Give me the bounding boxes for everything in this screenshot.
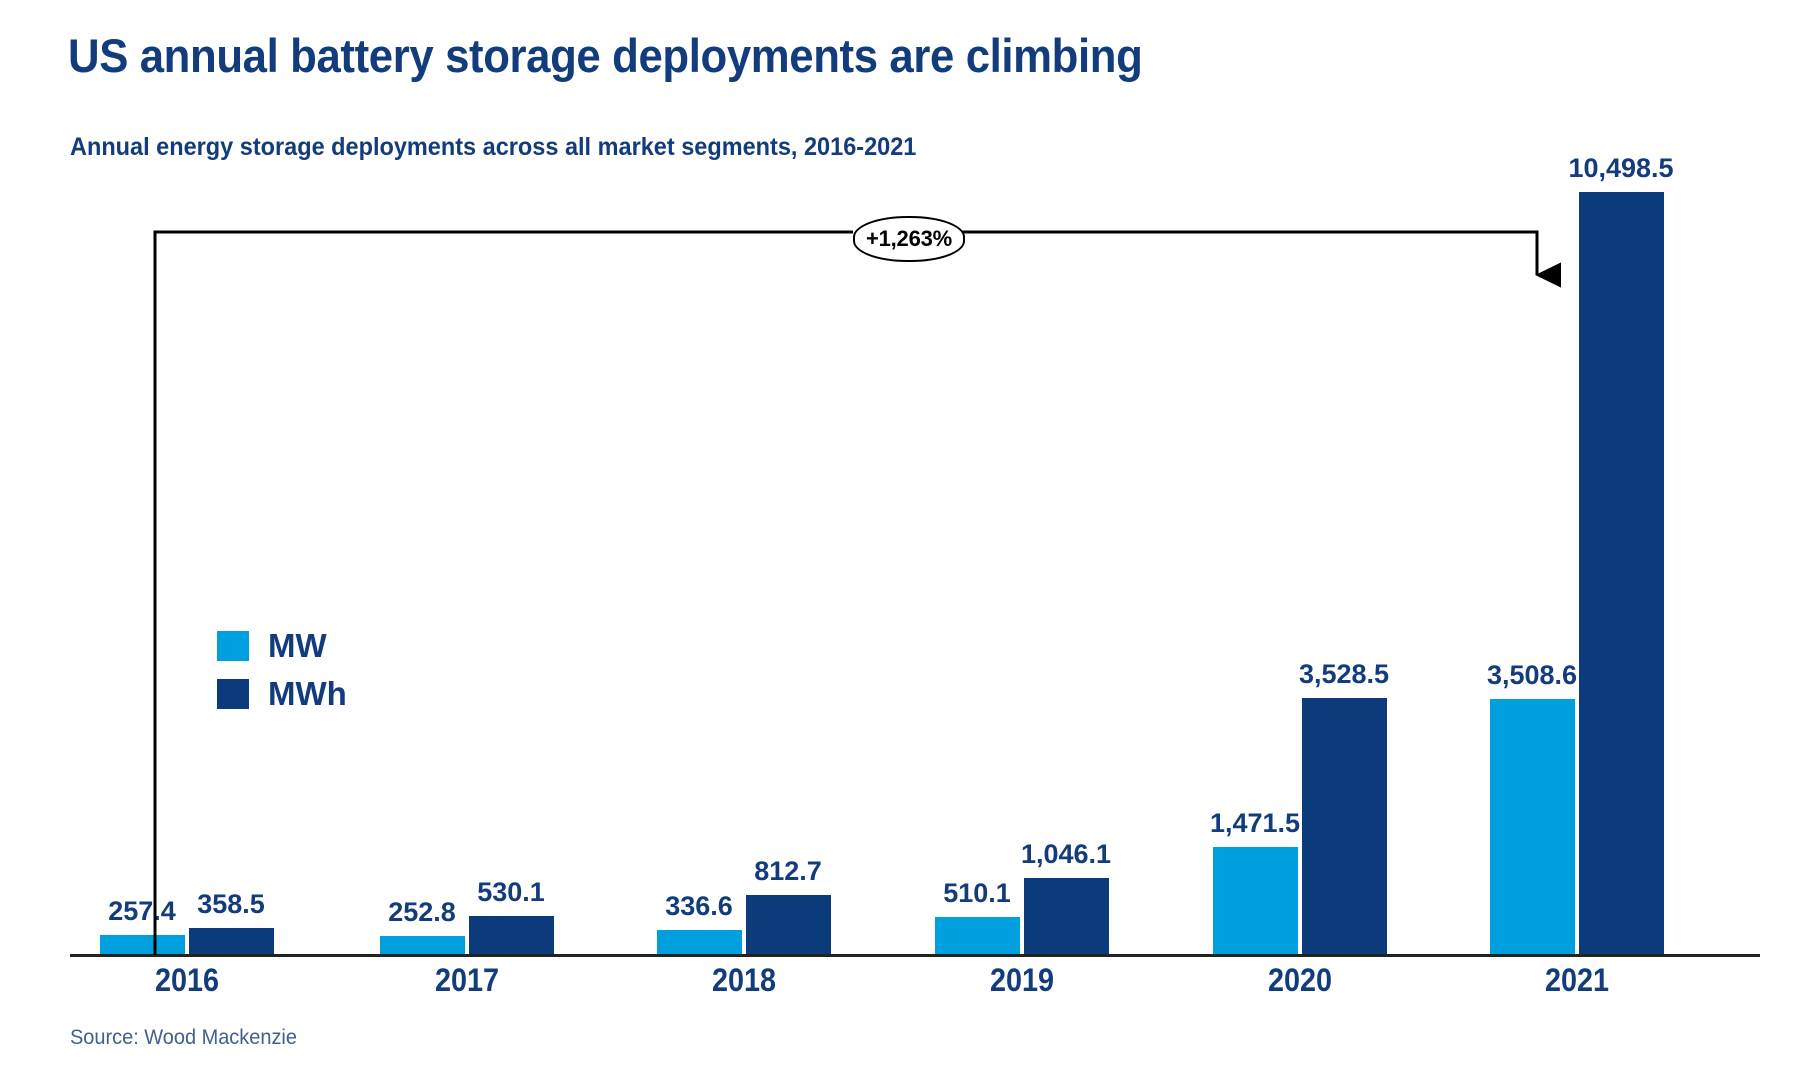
bar-2021-mwh[interactable] xyxy=(1579,192,1664,954)
plot-area: 257.4358.5252.8530.1336.6812.7510.11,046… xyxy=(0,0,1800,1080)
x-axis-tick-2018: 2018 xyxy=(654,962,834,999)
growth-annotation-badge: +1,263% xyxy=(853,216,965,262)
bar-2019-mw[interactable] xyxy=(935,917,1020,954)
legend-label-mw: MW xyxy=(268,629,327,662)
value-label-2021-mwh: 10,498.5 xyxy=(1561,153,1681,184)
chart-page: US annual battery storage deployments ar… xyxy=(0,0,1800,1080)
legend-item-mwh[interactable]: MWh xyxy=(217,673,347,714)
value-label-2020-mw: 1,471.5 xyxy=(1195,808,1315,839)
x-axis-tick-2021: 2021 xyxy=(1487,962,1667,999)
value-label-2017-mwh: 530.1 xyxy=(451,877,571,908)
source-caption: Source: Wood Mackenzie xyxy=(70,1026,297,1050)
bar-2017-mw[interactable] xyxy=(380,936,465,954)
bar-2020-mw[interactable] xyxy=(1213,847,1298,954)
growth-annotation-label: +1,263% xyxy=(866,226,952,252)
x-axis-tick-2020: 2020 xyxy=(1210,962,1390,999)
value-label-2018-mw: 336.6 xyxy=(639,891,759,922)
value-label-2016-mwh: 358.5 xyxy=(171,889,291,920)
value-label-2021-mw: 3,508.6 xyxy=(1472,660,1592,691)
value-label-2019-mwh: 1,046.1 xyxy=(1006,839,1126,870)
legend-swatch-mw-icon xyxy=(217,631,249,661)
legend-swatch-mwh-icon xyxy=(217,679,249,709)
bar-2016-mw[interactable] xyxy=(100,935,185,954)
x-axis-tick-2016: 2016 xyxy=(97,962,277,999)
bar-2020-mwh[interactable] xyxy=(1302,698,1387,954)
bar-2017-mwh[interactable] xyxy=(469,916,554,954)
x-axis-tick-2019: 2019 xyxy=(932,962,1112,999)
chart-legend: MW MWh xyxy=(217,625,347,721)
bar-2016-mwh[interactable] xyxy=(189,928,274,954)
legend-item-mw[interactable]: MW xyxy=(217,625,347,666)
value-label-2018-mwh: 812.7 xyxy=(728,856,848,887)
value-label-2020-mwh: 3,528.5 xyxy=(1284,659,1404,690)
bar-2018-mwh[interactable] xyxy=(746,895,831,954)
bar-2018-mw[interactable] xyxy=(657,930,742,954)
bar-2021-mw[interactable] xyxy=(1490,699,1575,954)
bar-series-container: 257.4358.5252.8530.1336.6812.7510.11,046… xyxy=(0,0,1800,1080)
legend-label-mwh: MWh xyxy=(268,677,347,710)
value-label-2019-mw: 510.1 xyxy=(917,878,1037,909)
x-axis-tick-2017: 2017 xyxy=(377,962,557,999)
bar-2019-mwh[interactable] xyxy=(1024,878,1109,954)
